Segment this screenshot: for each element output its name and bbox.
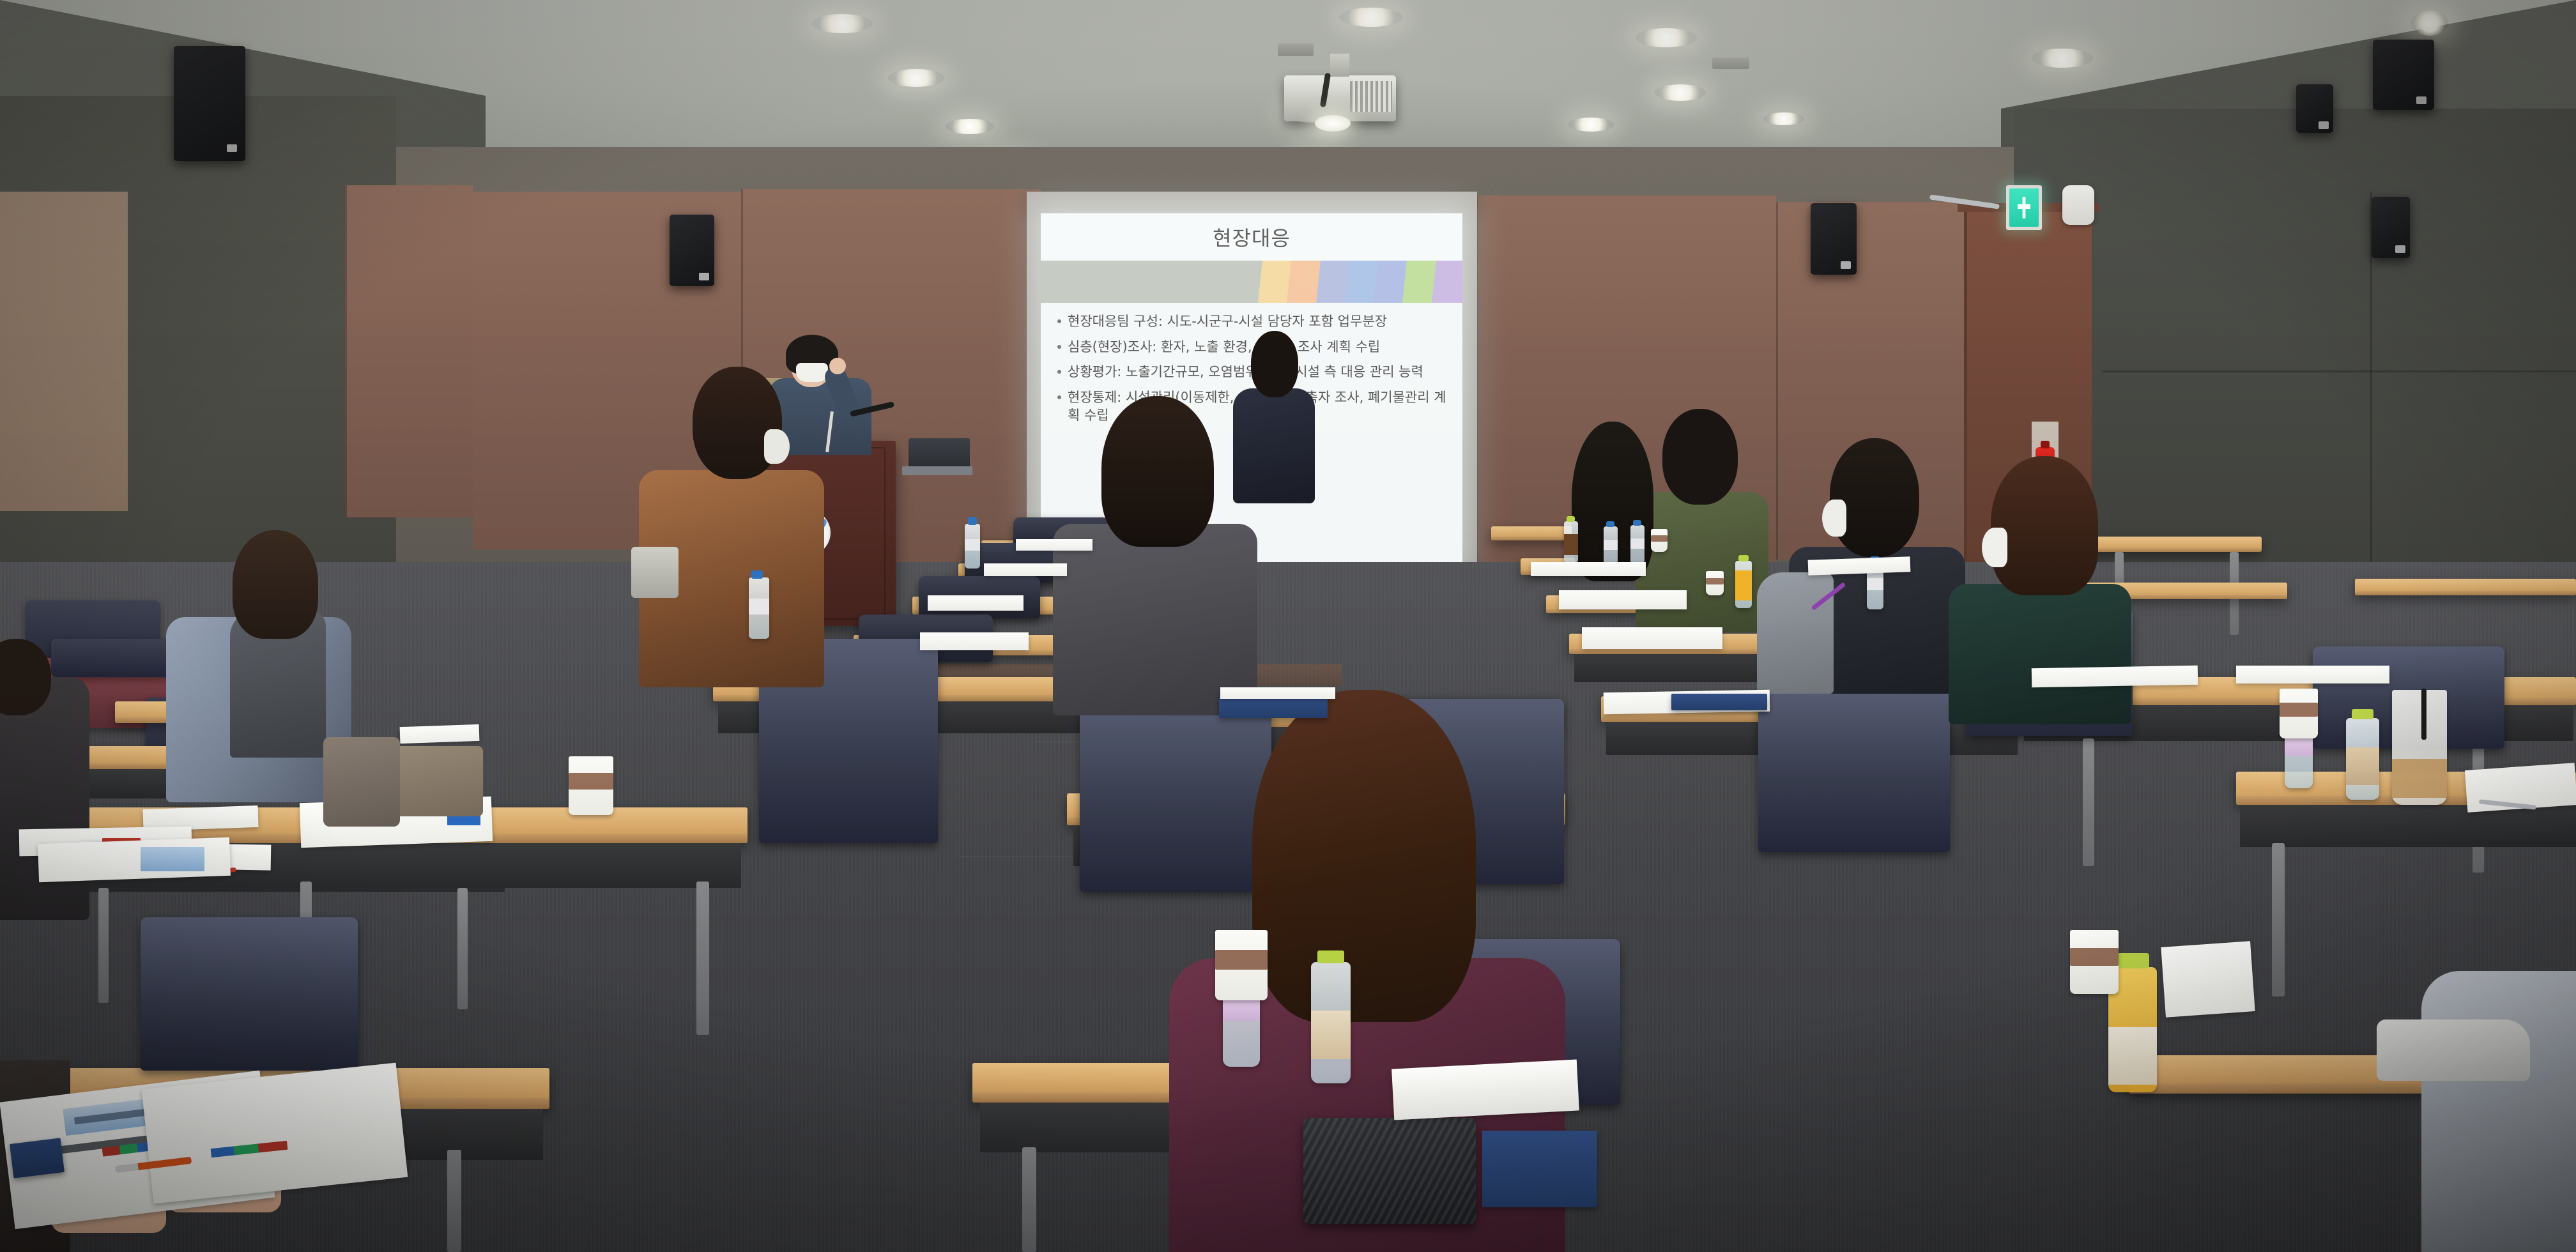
handout-paper[interactable] <box>928 595 1023 611</box>
bullet-dot-icon <box>1057 345 1061 349</box>
paper-cup[interactable] <box>2280 689 2318 738</box>
slide-color-ribbon <box>1041 261 1462 303</box>
table <box>2355 579 2576 595</box>
attendee-head <box>1101 396 1214 547</box>
table-leg <box>2272 843 2285 996</box>
attendee-bottom-right-edge <box>2421 971 2576 1252</box>
cup-sleeve <box>2070 948 2119 966</box>
wall-seam <box>1776 202 1778 560</box>
ceiling-downlight <box>888 69 944 87</box>
projector-lens <box>1315 115 1351 132</box>
laptop-base <box>902 466 972 475</box>
wall-panel <box>345 185 473 517</box>
ceiling-downlight <box>811 14 873 33</box>
ceiling-vent <box>1278 43 1314 56</box>
exit-sign <box>2006 185 2042 230</box>
shoe <box>2377 1019 2530 1081</box>
ceiling-projector <box>1284 75 1396 121</box>
trash-bin <box>631 547 678 598</box>
table-leg <box>1022 1147 1036 1252</box>
wall-seam <box>2102 370 2576 372</box>
notebook[interactable] <box>1671 694 1767 710</box>
ceiling-downlight <box>2411 10 2448 36</box>
table-leg <box>696 882 709 1035</box>
wall-clock <box>2062 185 2094 225</box>
seminar-room-photo: 현장대응 현장대응팀 구성: 시도-시군구-시설 담당자 포함 업무분장 심층(… <box>0 0 2576 1252</box>
juice-bottle[interactable] <box>1564 521 1578 563</box>
attendee-head <box>1991 456 2098 595</box>
bottle-label <box>1604 540 1618 550</box>
cup-sleeve <box>1215 950 1268 970</box>
cup-sleeve <box>2280 703 2318 717</box>
attendee-right-hair <box>1572 422 1661 613</box>
wall-speaker-right <box>1811 203 1857 275</box>
ceiling-downlight <box>1568 118 1614 132</box>
bullet-dot-icon <box>1057 370 1061 374</box>
wall-panel <box>0 192 128 511</box>
notepad[interactable] <box>1582 627 1722 649</box>
attendee-mask <box>1982 528 2007 567</box>
wall-speaker-right-upper <box>2373 40 2434 110</box>
handout-paper[interactable] <box>1016 539 1092 551</box>
attendee-head <box>1830 438 1919 557</box>
ceiling-vent <box>1712 57 1749 69</box>
wall-seam <box>345 185 347 517</box>
water-bottle[interactable] <box>1604 526 1618 566</box>
bottle-cap <box>1738 555 1749 561</box>
handout-paper[interactable] <box>400 724 480 744</box>
wall-speaker-left <box>174 46 245 161</box>
bottle-cap <box>1567 516 1575 522</box>
slide-bullet-text: 현장대응팀 구성: 시도-시군구-시설 담당자 포함 업무분장 <box>1068 313 1387 331</box>
table-apron <box>2240 805 2576 847</box>
ceiling-downlight <box>1655 84 1706 101</box>
attendee-mask <box>1822 500 1846 537</box>
handout-paper[interactable] <box>2236 666 2389 683</box>
ceiling-downlight <box>1339 8 1403 27</box>
attendee-mask <box>764 429 790 464</box>
wall-speaker-far-right <box>2372 197 2410 258</box>
paper-cup[interactable] <box>1706 571 1724 595</box>
chair-coat <box>323 737 400 827</box>
handout-paper[interactable] <box>2032 666 2198 688</box>
paper-cup[interactable] <box>2070 930 2119 994</box>
table-leg <box>2083 738 2094 866</box>
table-leg <box>457 888 468 1009</box>
handout-color-band <box>141 847 204 871</box>
cup-sleeve <box>569 773 613 790</box>
presenter-laptop[interactable] <box>902 438 972 478</box>
bullet-dot-icon <box>1057 319 1061 323</box>
bottle-cap <box>1606 521 1614 527</box>
handout-paper[interactable] <box>1391 1059 1579 1120</box>
table-leg <box>98 888 109 1003</box>
bottle-label <box>2108 1027 2157 1085</box>
handout-paper[interactable] <box>984 563 1067 576</box>
straw <box>2421 689 2426 740</box>
attendee-torso <box>1233 388 1315 503</box>
slide-title: 현장대응 <box>1213 222 1291 252</box>
bottle-cap <box>1633 520 1641 526</box>
attendee-head <box>1662 409 1738 505</box>
cup-sleeve <box>1651 535 1667 542</box>
table-leg <box>447 1150 461 1252</box>
bottle-label <box>2346 747 2379 785</box>
presenter-hand <box>829 358 846 374</box>
juice-bottle[interactable] <box>1735 561 1752 608</box>
attendee-torso <box>1949 584 2131 724</box>
paper-cup[interactable] <box>1651 529 1667 552</box>
bottle-label <box>1630 538 1644 549</box>
notepad[interactable] <box>1559 590 1687 609</box>
handout-paper[interactable] <box>920 632 1029 650</box>
attendee-front-center <box>639 362 831 681</box>
water-bottle[interactable] <box>1630 525 1644 565</box>
slide-bullet-text: 심층(현장)조사: 환자, 노출 환경, 접촉자 조사 계획 수립 <box>1068 339 1380 356</box>
attendee-head <box>233 530 318 639</box>
projector-cable <box>1320 73 1331 108</box>
exit-sign-panel <box>2009 188 2039 227</box>
ceiling-downlight <box>946 119 994 134</box>
bottle-label <box>1564 534 1578 555</box>
wall-speaker-corner <box>2296 84 2333 133</box>
quilted-pouch[interactable] <box>1303 1118 1476 1224</box>
water-bottle[interactable] <box>749 577 769 639</box>
bottle-cap <box>751 570 763 579</box>
bottle-label <box>1867 578 1883 590</box>
bottle-cap <box>1317 950 1344 963</box>
ceiling-downlight <box>1636 28 1697 47</box>
attendee-head <box>1251 331 1298 397</box>
attendee-torso <box>1053 524 1257 715</box>
chair[interactable] <box>1758 686 1950 852</box>
slide-title-bar: 현장대응 <box>1041 213 1462 261</box>
cup-sleeve <box>2392 759 2447 798</box>
juice-bottle[interactable] <box>2346 718 2379 800</box>
spiral-notebook[interactable] <box>1482 1131 1597 1207</box>
bottle-cap <box>2116 953 2149 968</box>
slide-bullet: 현장대응팀 구성: 시도-시군구-시설 담당자 포함 업무분장 <box>1057 313 1448 331</box>
handout-paper[interactable] <box>2161 941 2255 1017</box>
handout-paper[interactable] <box>1531 562 1646 576</box>
paper-cup[interactable] <box>569 756 613 815</box>
attendee-head <box>1252 690 1476 1022</box>
laptop-screen <box>908 438 970 468</box>
cup-sleeve <box>1706 578 1724 585</box>
water-bottle[interactable] <box>1311 962 1351 1083</box>
attendee-right-a <box>1233 331 1316 497</box>
ceiling-downlight <box>2032 49 2093 68</box>
bottle-label <box>1735 570 1752 600</box>
bottle-label <box>1311 1011 1351 1059</box>
bottle-cap <box>2352 709 2373 719</box>
notebook[interactable] <box>10 1138 65 1178</box>
attendee-shirt <box>1757 572 1834 694</box>
exit-running-figure-icon <box>2018 197 2030 218</box>
attendee-torso <box>2421 971 2576 1252</box>
handout-paper[interactable] <box>1220 687 1335 699</box>
ribbon-segment <box>1430 261 1462 303</box>
chair[interactable] <box>141 917 358 1071</box>
wall-speaker-left-lower <box>670 215 714 286</box>
projector-mount <box>1330 54 1349 77</box>
paper-cup[interactable] <box>1215 930 1268 1000</box>
ceiling-downlight <box>1763 112 1804 125</box>
bottle-cap <box>968 517 977 525</box>
water-bottle[interactable] <box>965 524 980 569</box>
iced-drink-cup[interactable] <box>2392 690 2447 805</box>
bottle-label <box>749 599 769 615</box>
projector-vent-grill <box>1350 81 1392 112</box>
bottle-label <box>965 539 980 551</box>
